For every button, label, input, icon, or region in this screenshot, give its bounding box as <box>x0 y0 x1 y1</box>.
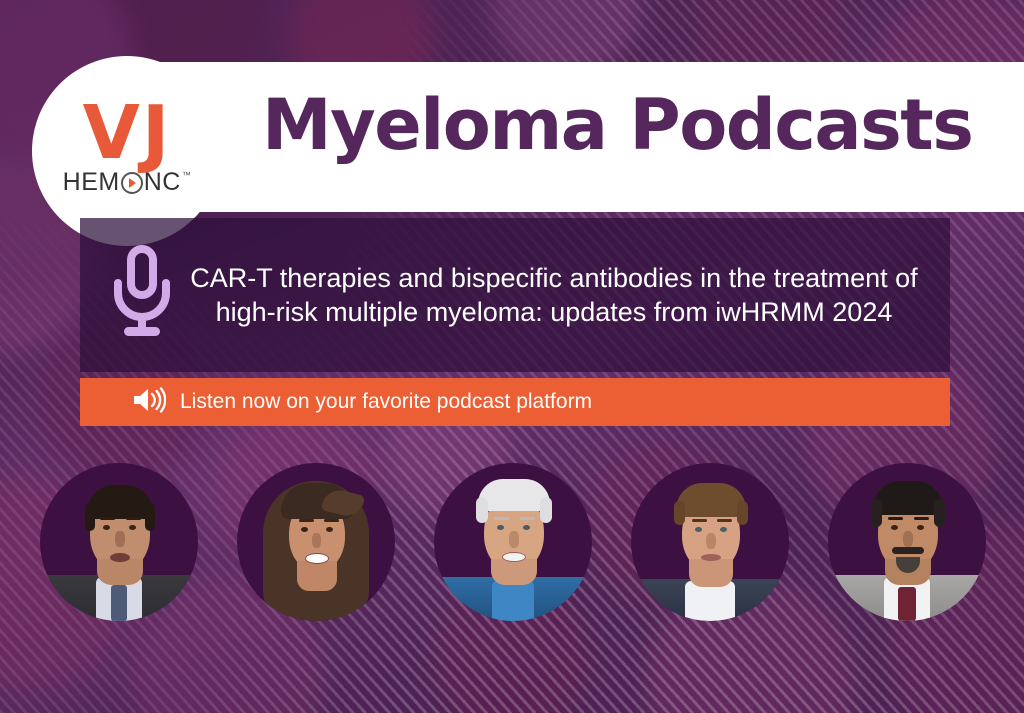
podcast-promo-card: Myeloma Podcasts VJ HEM NC ™ CAR-T thera… <box>0 0 1024 713</box>
avatar <box>237 463 395 621</box>
speaker-portrait-4[interactable] <box>631 463 789 621</box>
avatar <box>40 463 198 621</box>
episode-panel: CAR-T therapies and bispecific antibodie… <box>80 218 950 372</box>
speaker-portrait-row <box>0 463 1024 633</box>
avatar <box>631 463 789 621</box>
avatar <box>434 463 592 621</box>
speaker-portrait-3[interactable] <box>434 463 592 621</box>
logo-vj-text: VJ <box>83 101 172 166</box>
trademark-symbol: ™ <box>182 170 192 180</box>
speaker-portrait-1[interactable] <box>40 463 198 621</box>
episode-title: CAR-T therapies and bispecific antibodie… <box>178 261 950 329</box>
microphone-icon <box>106 243 178 348</box>
listen-now-label: Listen now on your favorite podcast plat… <box>180 390 592 414</box>
page-title: Myeloma Podcasts <box>262 90 972 160</box>
logo-hemonc-wordmark: HEM NC ™ <box>63 168 192 197</box>
speaker-portrait-5[interactable] <box>828 463 986 621</box>
play-circle-icon <box>121 172 143 194</box>
speaker-portrait-2[interactable] <box>237 463 395 621</box>
avatar <box>828 463 986 621</box>
listen-now-banner[interactable]: Listen now on your favorite podcast plat… <box>80 378 950 426</box>
logo-hem-text: HEM <box>63 168 120 197</box>
logo-nc-text: NC <box>144 168 181 197</box>
speaker-volume-icon <box>132 387 166 418</box>
